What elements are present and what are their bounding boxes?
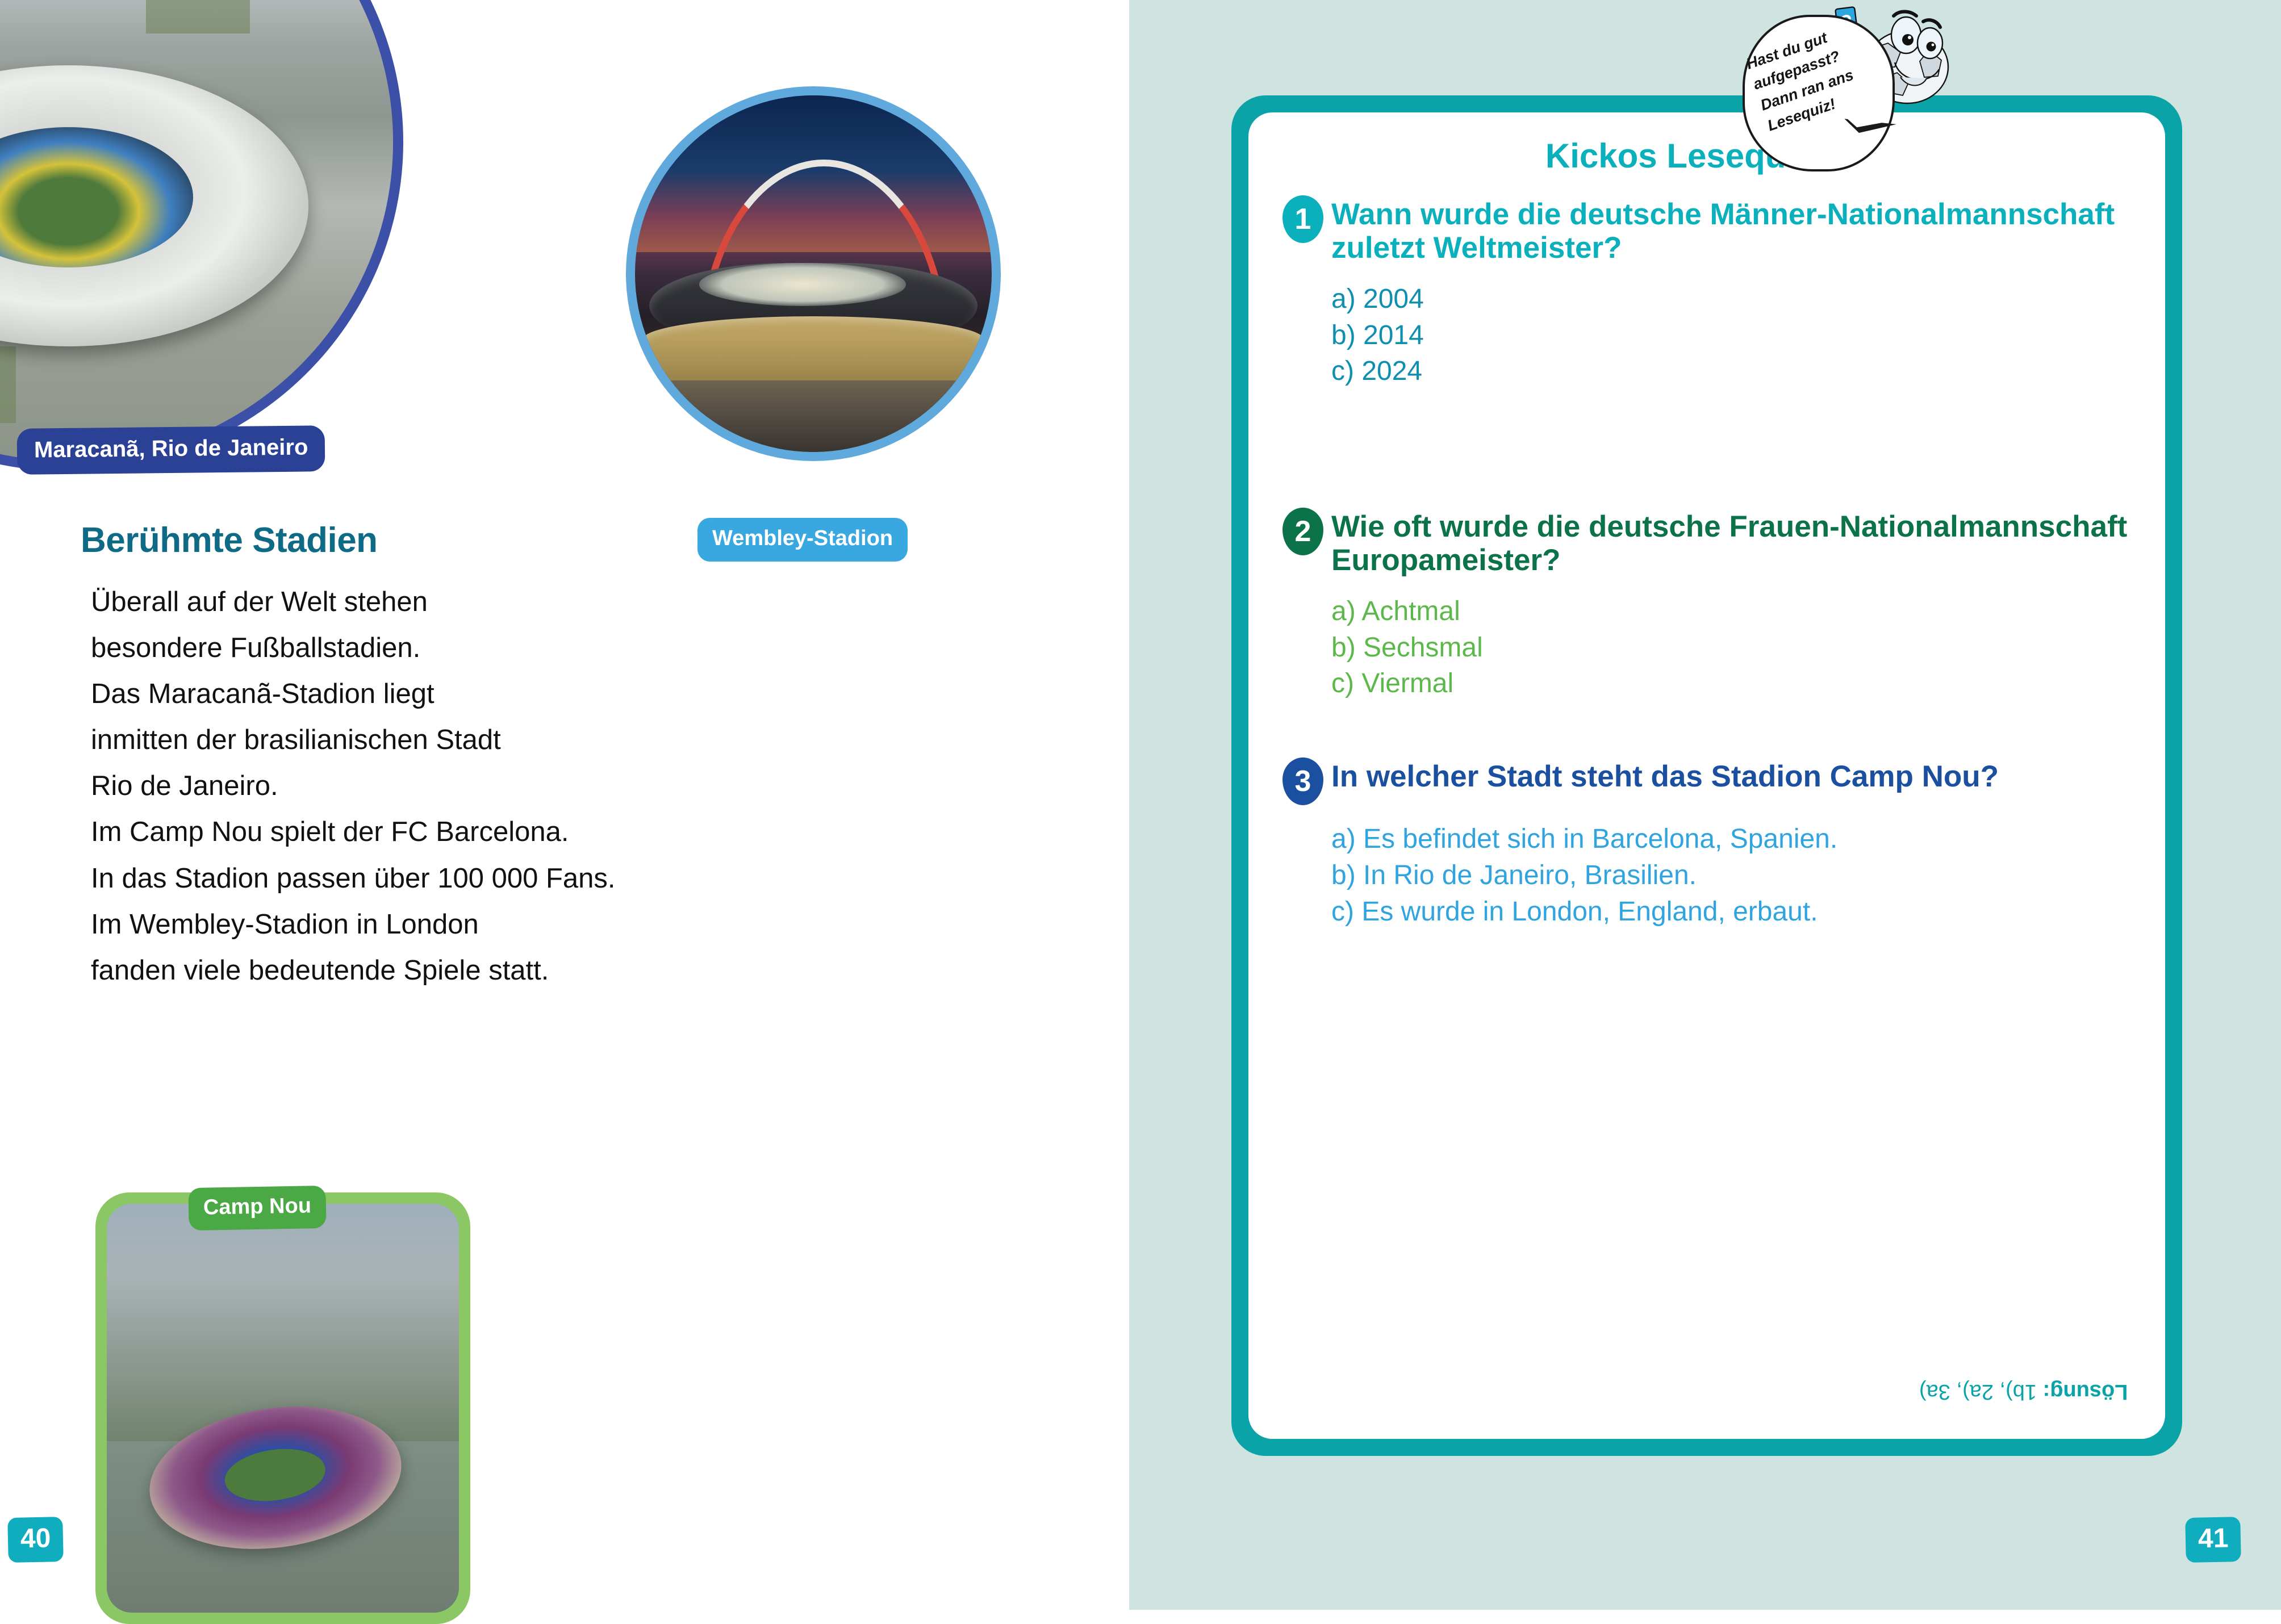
solution-value: 1b), 2a), 3a) (1919, 1380, 2043, 1404)
campnou-pitch (222, 1443, 329, 1506)
body-line: Überall auf der Welt stehen (91, 579, 943, 625)
option-c[interactable]: c) 2024 (1331, 353, 2134, 390)
question-2-text: Wie oft wurde die deutsche Frauen-Nation… (1331, 510, 2134, 577)
question-3-header: 3 In welcher Stadt steht das Stadion Cam… (1282, 760, 2134, 805)
question-2-header: 2 Wie oft wurde die deutsche Frauen-Nati… (1282, 510, 2134, 577)
question-1-number: 1 (1282, 195, 1323, 243)
question-2-number: 2 (1282, 508, 1323, 555)
quiz-question-1: 1 Wann wurde die deutsche Männer-Nationa… (1282, 198, 2134, 390)
option-a[interactable]: a) Es befindet sich in Barcelona, Spanie… (1331, 821, 2134, 857)
option-c[interactable]: c) Viermal (1331, 665, 2134, 702)
question-1-options: a) 2004 b) 2014 c) 2024 (1331, 281, 2134, 390)
speech-bubble: Hast du gut aufgepasst? Dann ran ans Les… (1743, 15, 1895, 171)
solution-label: Lösung: (2042, 1380, 2128, 1404)
question-3-options: a) Es befindet sich in Barcelona, Spanie… (1331, 821, 2134, 930)
maracana-photo (0, 0, 393, 461)
quiz-card: Kickos Lesequiz 1 Wann wurde die deutsch… (1231, 95, 2182, 1456)
option-b[interactable]: b) Sechsmal (1331, 630, 2134, 666)
quiz-question-2: 2 Wie oft wurde die deutsche Frauen-Nati… (1282, 510, 2134, 702)
campnou-cityscape (107, 1204, 459, 1441)
wembley-photo (635, 95, 992, 452)
maracana-photo-frame (0, 0, 403, 471)
body-line: Rio de Janeiro. (91, 763, 943, 809)
solution-line: Lösung: 1b), 2a), 3a) (1919, 1379, 2128, 1404)
body-line: inmitten der brasilianischen Stadt (91, 717, 943, 763)
page-number-right: 41 (2185, 1517, 2241, 1563)
body-text: Überall auf der Welt stehen besondere Fu… (91, 579, 943, 994)
wembley-floodlights (699, 263, 906, 305)
page-number-left: 40 (7, 1517, 64, 1563)
question-3-text: In welcher Stadt steht das Stadion Camp … (1331, 760, 1999, 793)
wembley-caption-label: Wembley-Stadion (697, 518, 908, 562)
quiz-question-3: 3 In welcher Stadt steht das Stadion Cam… (1282, 760, 2134, 930)
option-a[interactable]: a) Achtmal (1331, 593, 2134, 630)
question-1-header: 1 Wann wurde die deutsche Männer-Nationa… (1282, 198, 2134, 265)
maracana-stadium-pitch (0, 127, 193, 267)
question-1-text: Wann wurde die deutsche Männer-Nationalm… (1331, 198, 2134, 265)
option-b[interactable]: b) In Rio de Janeiro, Brasilien. (1331, 857, 2134, 894)
maracana-caption-label: Maracanã, Rio de Janeiro (17, 425, 325, 475)
body-line: Im Wembley-Stadion in London (91, 902, 943, 948)
question-3-number: 3 (1282, 757, 1323, 805)
campnou-caption-label: Camp Nou (188, 1186, 326, 1230)
campnou-photo (107, 1204, 459, 1613)
left-page: Maracanã, Rio de Janeiro Wembley-Stadion… (0, 0, 1129, 1610)
campnou-photo-frame (95, 1192, 470, 1624)
wembley-photo-frame (626, 86, 1001, 461)
option-b[interactable]: b) 2014 (1331, 317, 2134, 354)
right-page: Hast du gut aufgepasst? Dann ran ans Les… (1129, 0, 2281, 1610)
body-line: besondere Fußballstadien. (91, 625, 943, 671)
question-2-options: a) Achtmal b) Sechsmal c) Viermal (1331, 593, 2134, 702)
option-c[interactable]: c) Es wurde in London, England, erbaut. (1331, 894, 2134, 930)
option-a[interactable]: a) 2004 (1331, 281, 2134, 317)
body-line: Im Camp Nou spielt der FC Barcelona. (91, 809, 943, 855)
body-line: Das Maracanã-Stadion liegt (91, 671, 943, 717)
wembley-forecourt (635, 380, 992, 452)
quiz-card-inner: Kickos Lesequiz 1 Wann wurde die deutsch… (1248, 112, 2165, 1439)
body-line: fanden viele bedeutende Spiele statt. (91, 948, 943, 994)
page-title: Berühmte Stadien (81, 520, 378, 560)
body-line: In das Stadion passen über 100 000 Fans. (91, 856, 943, 902)
